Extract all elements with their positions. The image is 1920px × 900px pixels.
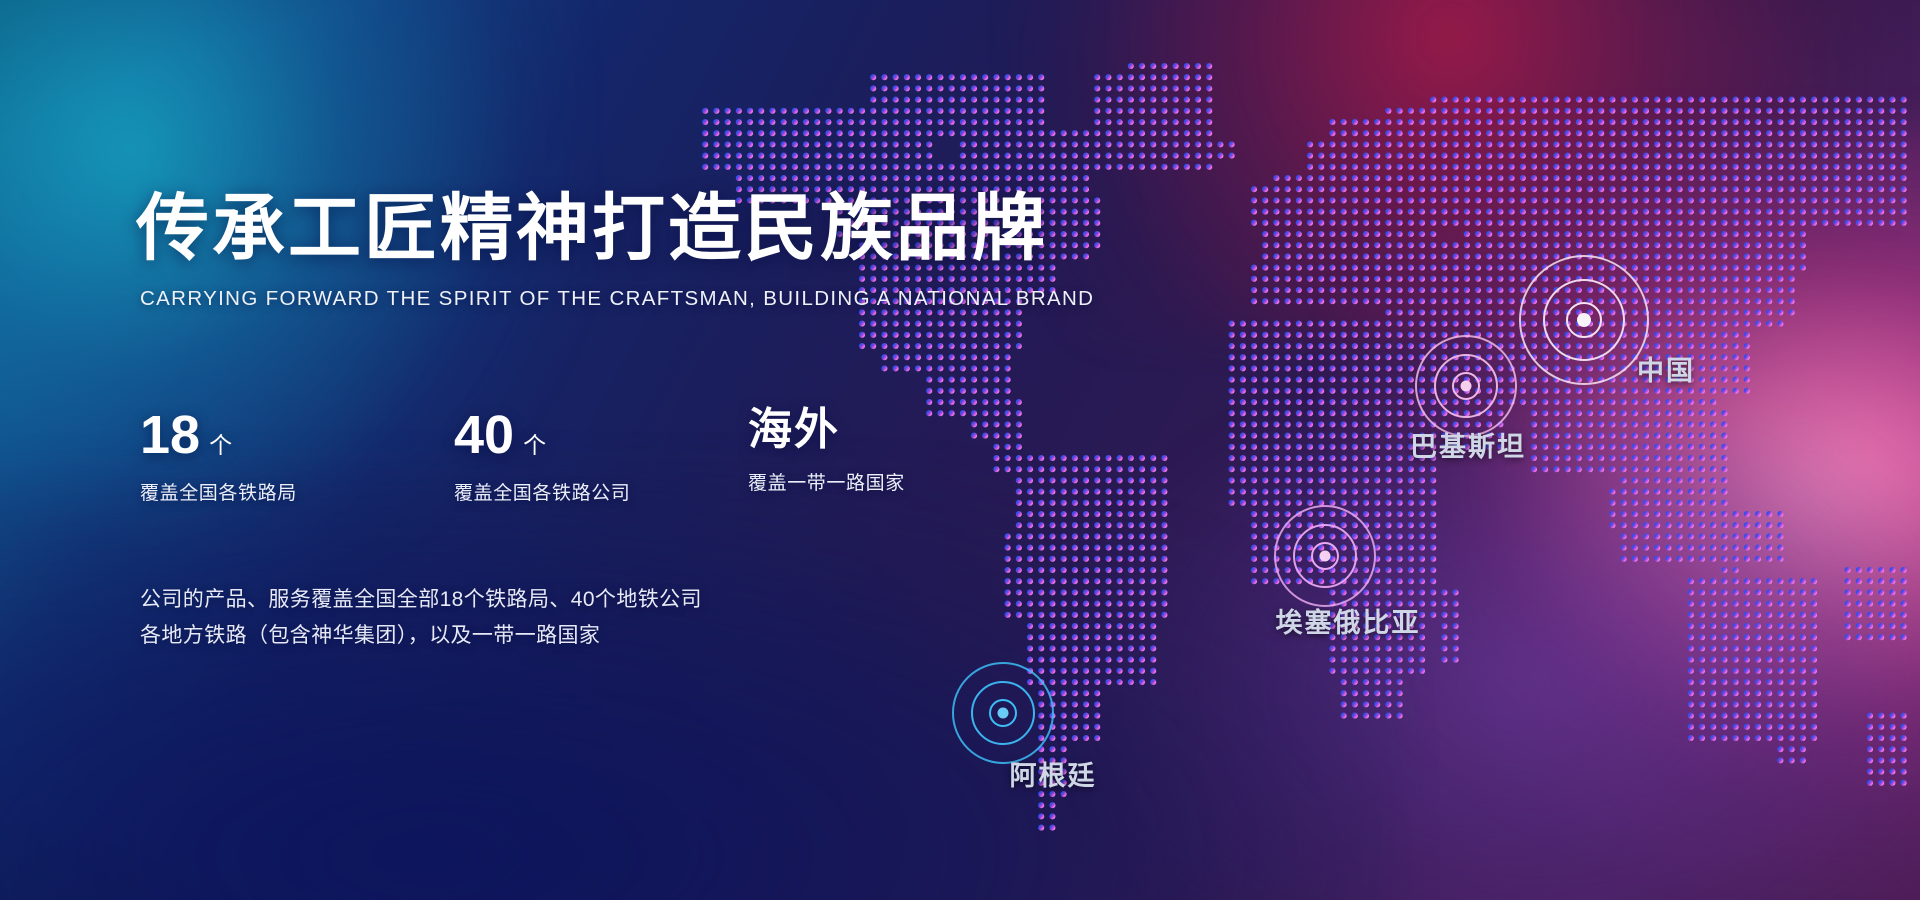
description-line-1: 公司的产品、服务覆盖全国全部18个铁路局、40个地铁公司: [140, 582, 702, 618]
stat-description: 覆盖一带一路国家: [748, 468, 905, 495]
banner-stage: 中国巴基斯坦埃塞俄比亚阿根廷 传承工匠精神打造民族品牌 CARRYING FOR…: [0, 0, 1920, 900]
stat-value: 海外: [748, 408, 905, 452]
stat-value: 40 个: [454, 408, 660, 462]
stat-item-overseas: 海外 覆盖一带一路国家: [748, 408, 905, 495]
stat-unit: 个: [523, 434, 546, 457]
page-subtitle: CARRYING FORWARD THE SPIRIT OF THE CRAFT…: [140, 287, 1036, 311]
headline-block: 传承工匠精神打造民族品牌 CARRYING FORWARD THE SPIRIT…: [136, 190, 1036, 311]
stat-number: 海外: [748, 408, 840, 452]
stat-item-railway-companies: 40 个 覆盖全国各铁路公司: [454, 408, 660, 505]
stat-number: 18: [140, 408, 200, 462]
stat-number: 40: [454, 408, 514, 462]
page-title: 传承工匠精神打造民族品牌: [136, 190, 1036, 267]
description-paragraph: 公司的产品、服务覆盖全国全部18个铁路局、40个地铁公司 各地方铁路（包含神华集…: [140, 582, 702, 654]
stat-item-railway-bureaus: 18 个 覆盖全国各铁路局: [140, 408, 366, 505]
stat-description: 覆盖全国各铁路公司: [454, 478, 660, 505]
stats-row: 18 个 覆盖全国各铁路局 40 个 覆盖全国各铁路公司 海外 覆盖一带一路国家: [140, 408, 905, 505]
description-line-2: 各地方铁路（包含神华集团），以及一带一路国家: [140, 618, 702, 654]
stat-value: 18 个: [140, 408, 366, 462]
stat-unit: 个: [209, 434, 232, 457]
stat-description: 覆盖全国各铁路局: [140, 478, 366, 505]
